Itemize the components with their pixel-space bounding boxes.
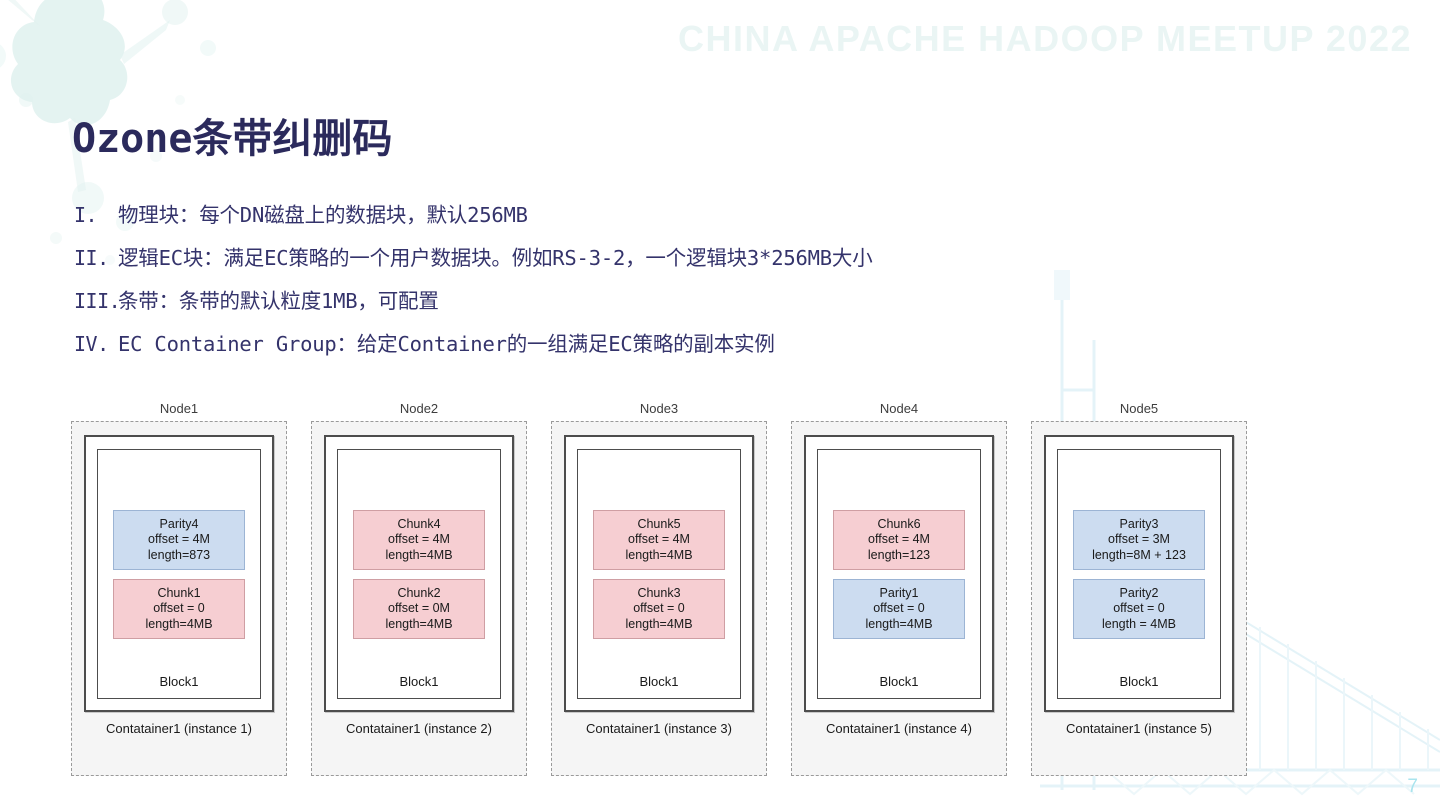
chunk-length: length=4MB [385,548,452,564]
chunk-name: Chunk4 [397,517,440,533]
node-label: Node2 [400,401,438,421]
chunk-name: Chunk6 [877,517,920,533]
container-box: Parity3 offset = 3M length=8M + 123 Pari… [1044,435,1234,712]
chunk-name: Chunk1 [157,586,200,602]
chunk-name: Parity2 [1120,586,1159,602]
container-label: Contatainer1 (instance 1) [106,721,252,736]
container-box: Chunk5 offset = 4M length=4MB Chunk3 off… [564,435,754,712]
node-label: Node4 [880,401,918,421]
chunk-name: Chunk2 [397,586,440,602]
chunk-offset: offset = 0 [153,601,205,617]
definition-list: I. 物理块：每个DN磁盘上的数据块，默认256MB II. 逻辑EC块：满足E… [74,198,1374,370]
chunk-cell: Parity3 offset = 3M length=8M + 123 [1073,510,1205,570]
chunk-offset: offset = 3M [1108,532,1170,548]
list-item-number: III. [74,289,118,313]
chunk-name: Parity4 [160,517,199,533]
chunk-cell: Chunk3 offset = 0 length=4MB [593,579,725,639]
meetup-watermark: CHINA APACHE HADOOP MEETUP 2022 [678,18,1412,60]
chunk-cell: Chunk1 offset = 0 length=4MB [113,579,245,639]
node-box: Parity4 offset = 4M length=873 Chunk1 of… [71,421,287,776]
chunk-name: Parity1 [880,586,919,602]
list-item: III. 条带：条带的默认粒度1MB，可配置 [74,284,1374,327]
chunk-length: length=4MB [145,617,212,633]
chunk-name: Chunk3 [637,586,680,602]
node-label: Node5 [1120,401,1158,421]
container-label: Contatainer1 (instance 2) [346,721,492,736]
chunk-cell: Chunk6 offset = 4M length=123 [833,510,965,570]
list-item: IV. EC Container Group：给定Container的一组满足E… [74,327,1374,370]
chunk-name: Chunk5 [637,517,680,533]
list-item-text: 逻辑EC块：满足EC策略的一个用户数据块。例如RS-3-2，一个逻辑块3*256… [118,241,873,271]
chunk-cell: Chunk5 offset = 4M length=4MB [593,510,725,570]
node-column: Node1 Parity4 offset = 4M length=873 Chu… [70,401,288,781]
chunk-cell: Chunk4 offset = 4M length=4MB [353,510,485,570]
chunk-cell: Parity1 offset = 0 length=4MB [833,579,965,639]
chunk-length: length=4MB [625,617,692,633]
block-box: Parity3 offset = 3M length=8M + 123 Pari… [1057,449,1221,699]
container-box: Parity4 offset = 4M length=873 Chunk1 of… [84,435,274,712]
list-item-text: EC Container Group：给定Container的一组满足EC策略的… [118,327,775,357]
list-item-number: I. [74,203,118,227]
list-item-number: II. [74,246,118,270]
list-item: II. 逻辑EC块：满足EC策略的一个用户数据块。例如RS-3-2，一个逻辑块3… [74,241,1374,284]
chunk-offset: offset = 0 [633,601,685,617]
block-box: Chunk6 offset = 4M length=123 Parity1 of… [817,449,981,699]
list-item-text: 条带：条带的默认粒度1MB，可配置 [118,284,439,314]
slide-canvas: CHINA APACHE HADOOP MEETUP 2022 Ozone条带纠… [0,0,1440,810]
chunk-cell: Parity4 offset = 4M length=873 [113,510,245,570]
block-box: Parity4 offset = 4M length=873 Chunk1 of… [97,449,261,699]
block-label: Block1 [98,674,260,689]
chunk-length: length=873 [148,548,210,564]
node-box: Chunk6 offset = 4M length=123 Parity1 of… [791,421,1007,776]
chunk-cell: Chunk2 offset = 0M length=4MB [353,579,485,639]
container-box: Chunk6 offset = 4M length=123 Parity1 of… [804,435,994,712]
page-title: Ozone条带纠删码 [72,106,392,164]
chunk-name: Parity3 [1120,517,1159,533]
chunk-length: length = 4MB [1102,617,1176,633]
node-box: Parity3 offset = 3M length=8M + 123 Pari… [1031,421,1247,776]
list-item: I. 物理块：每个DN磁盘上的数据块，默认256MB [74,198,1374,241]
chunk-cell: Parity2 offset = 0 length = 4MB [1073,579,1205,639]
block-label: Block1 [1058,674,1220,689]
chunk-offset: offset = 0 [1113,601,1165,617]
block-label: Block1 [338,674,500,689]
block-box: Chunk5 offset = 4M length=4MB Chunk3 off… [577,449,741,699]
node-column: Node4 Chunk6 offset = 4M length=123 Pari… [790,401,1008,781]
container-box: Chunk4 offset = 4M length=4MB Chunk2 off… [324,435,514,712]
node-label: Node1 [160,401,198,421]
chunk-offset: offset = 0M [388,601,450,617]
node-label: Node3 [640,401,678,421]
chunk-length: length=4MB [385,617,452,633]
chunk-offset: offset = 4M [148,532,210,548]
page-number: 7 [1407,776,1418,798]
block-label: Block1 [818,674,980,689]
chunk-length: length=123 [868,548,930,564]
node-box: Chunk4 offset = 4M length=4MB Chunk2 off… [311,421,527,776]
chunk-offset: offset = 4M [388,532,450,548]
container-label: Contatainer1 (instance 5) [1066,721,1212,736]
block-box: Chunk4 offset = 4M length=4MB Chunk2 off… [337,449,501,699]
list-item-text: 物理块：每个DN磁盘上的数据块，默认256MB [118,198,528,228]
container-label: Contatainer1 (instance 4) [826,721,972,736]
block-label: Block1 [578,674,740,689]
chunk-length: length=4MB [625,548,692,564]
chunk-offset: offset = 4M [628,532,690,548]
container-label: Contatainer1 (instance 3) [586,721,732,736]
list-item-number: IV. [74,332,118,356]
node-column: Node3 Chunk5 offset = 4M length=4MB Chun… [550,401,768,781]
node-column: Node2 Chunk4 offset = 4M length=4MB Chun… [310,401,528,781]
chunk-length: length=8M + 123 [1092,548,1186,564]
ec-container-group-diagram: Node1 Parity4 offset = 4M length=873 Chu… [70,401,1248,781]
chunk-offset: offset = 4M [868,532,930,548]
node-column: Node5 Parity3 offset = 3M length=8M + 12… [1030,401,1248,781]
chunk-offset: offset = 0 [873,601,925,617]
node-box: Chunk5 offset = 4M length=4MB Chunk3 off… [551,421,767,776]
chunk-length: length=4MB [865,617,932,633]
